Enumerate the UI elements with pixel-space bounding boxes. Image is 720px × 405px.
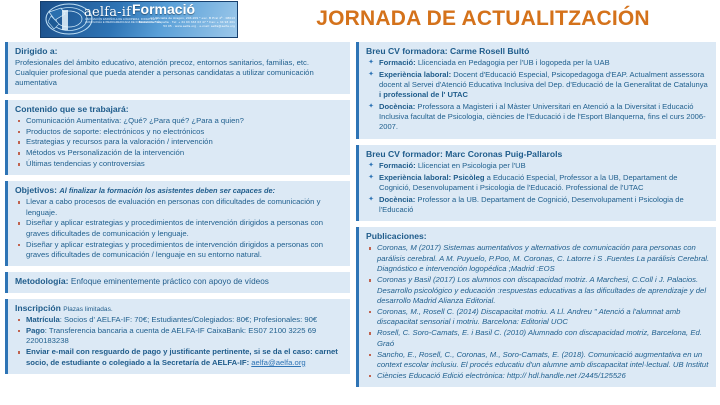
cv2-name: Marc Coronas Puig-Pallarols <box>445 149 562 159</box>
publicaciones-title: Publicaciones: <box>366 231 710 241</box>
cv2-list: ✦Formació: Llicenciat en Psicologia per … <box>366 161 710 215</box>
cv1-formacio-text: Llicenciada en Pedagogia per l'UB i logo… <box>416 58 610 67</box>
matricula-text: : Socios d' AELFA-IF: 70€; Estudiantes/C… <box>60 315 317 324</box>
cv1-name: Carme Rosell Bultó <box>450 46 529 56</box>
list-item-docencia: ✦Docència: Professor a la UB. Departamen… <box>366 195 710 215</box>
cv2-label: Breu CV formador: <box>366 149 443 159</box>
cv1-docencia-label: Docència: <box>379 102 415 111</box>
dirigido-title: Dirigido a: <box>15 46 344 56</box>
aelfa-address: C/ Oficialía de Aragón, 203-209 * esc. B… <box>137 16 235 29</box>
list-item-matricula: Matrícula: Socios d' AELFA-IF: 70€; Estu… <box>15 315 344 325</box>
formacio-label: Formació <box>132 1 195 17</box>
diamond-bullet-icon: ✦ <box>368 60 374 66</box>
section-publicaciones: Publicaciones: Coronas, M (2017) Sistema… <box>356 227 716 386</box>
list-item-experiencia: ✦Experiència laboral: Docent d'Educació … <box>366 70 710 101</box>
diamond-bullet-icon: ✦ <box>368 197 374 203</box>
section-objetivos: Objetivos: Al finalizar la formación los… <box>5 181 350 266</box>
objetivos-list: Llevar a cabo procesos de evaluación en … <box>15 197 344 260</box>
cv1-label: Breu CV formadora: <box>366 46 448 56</box>
aelfa-email-link[interactable]: aelfa@aelfa.org <box>251 358 305 367</box>
cv1-experiencia-tail: i professional de l' UTAC <box>379 90 468 99</box>
list-item-email: Enviar e-mail con resguardo de pago y ju… <box>15 347 344 368</box>
poster-header: aelfa-if ASOCIACIÓN ESPAÑOLA DE LOGOPEDI… <box>0 0 720 40</box>
section-inscripcion: Inscripción Plazas limitadas. Matrícula:… <box>5 299 350 374</box>
section-contenido: Contenido que se trabajará: Comunicación… <box>5 100 350 176</box>
objetivos-label: Objetivos: <box>15 185 57 195</box>
cv2-docencia-label: Docència: <box>379 195 415 204</box>
pago-label: Pago <box>26 326 45 335</box>
metodologia-text: Enfoque eminentemente práctico con apoyo… <box>71 277 269 286</box>
diamond-bullet-icon: ✦ <box>368 175 374 181</box>
cv2-docencia-text: Professor a la UB. Departament de Cognic… <box>379 195 684 214</box>
metodologia-title: Metodología: Enfoque eminentemente práct… <box>15 276 344 286</box>
diamond-bullet-icon: ✦ <box>368 72 374 78</box>
cv2-formacio-label: Formació: <box>379 161 416 170</box>
list-item: Rosell, C. Soro-Camats, E. i Basil C. (2… <box>366 328 710 349</box>
cv2-experiencia-label: Experiència laboral: <box>379 173 451 182</box>
dirigido-text: Profesionales del ámbito educativo, aten… <box>15 58 344 89</box>
list-item: Sancho, E., Rosell, C., Coronas, M., Sor… <box>366 350 710 371</box>
list-item: Llevar a cabo procesos de evaluación en … <box>15 197 344 218</box>
section-cv-formadora: Breu CV formadora: Carme Rosell Bultó ✦F… <box>356 42 716 139</box>
list-item: Productos de soporte: electrónicos y no … <box>15 127 344 137</box>
pago-text: : Transferencia bancaria a cuenta de AEL… <box>26 326 316 345</box>
cv2-formacio-text: Llicenciat en Psicologia per l'UB <box>416 161 526 170</box>
right-column: Breu CV formadora: Carme Rosell Bultó ✦F… <box>356 42 716 393</box>
list-item: Comunicación Aumentativa: ¿Qué? ¿Para qu… <box>15 116 344 126</box>
cv2-title: Breu CV formador: Marc Coronas Puig-Pall… <box>366 149 710 159</box>
list-item: Ciències Educació Edició electrònica: ht… <box>366 371 710 381</box>
list-item: Coronas, M., Rosell C. (2014) Discapacit… <box>366 307 710 328</box>
list-item: Coronas, M (2017) Sistemas aumentativos … <box>366 243 710 274</box>
section-metodologia: Metodología: Enfoque eminentemente práct… <box>5 272 350 293</box>
inscripcion-list: Matrícula: Socios d' AELFA-IF: 70€; Estu… <box>15 315 344 368</box>
diamond-bullet-icon: ✦ <box>368 104 374 110</box>
list-item: Coronas y Basil (2017) Los alumnos con d… <box>366 275 710 306</box>
list-item-pago: Pago: Transferencia bancaria a cuenta de… <box>15 326 344 347</box>
publicaciones-list: Coronas, M (2017) Sistemas aumentativos … <box>366 243 710 381</box>
inscripcion-subtitle: Plazas limitadas. <box>63 306 112 313</box>
objetivos-title: Objetivos: Al finalizar la formación los… <box>15 185 344 195</box>
left-column: Dirigido a: Profesionales del ámbito edu… <box>5 42 350 380</box>
contenido-title: Contenido que se trabajará: <box>15 104 344 114</box>
section-dirigido-a: Dirigido a: Profesionales del ámbito edu… <box>5 42 350 94</box>
list-item: Estrategias y recursos para la valoració… <box>15 137 344 147</box>
list-item: Diseñar y aplicar estrategias y procedim… <box>15 218 344 239</box>
cv1-docencia-text: Professora a Magisteri i al Màster Unive… <box>379 102 706 131</box>
cv2-experiencia-mid: Psicòleg <box>451 173 484 182</box>
metodologia-label: Metodología: <box>15 276 68 286</box>
list-item: Métodos vs Personalización de la interve… <box>15 148 344 158</box>
list-item-formacio: ✦Formació: Llicenciat en Psicologia per … <box>366 161 710 171</box>
list-item-docencia: ✦Docència: Professora a Magisteri i al M… <box>366 102 710 133</box>
poster-root: aelfa-if ASOCIACIÓN ESPAÑOLA DE LOGOPEDI… <box>0 0 720 405</box>
inscripcion-title: Inscripción Plazas limitadas. <box>15 303 344 313</box>
list-item: Últimas tendencias y controversias <box>15 159 344 169</box>
diamond-bullet-icon: ✦ <box>368 163 374 169</box>
matricula-label: Matrícula <box>26 315 60 324</box>
cv1-title: Breu CV formadora: Carme Rosell Bultó <box>366 46 710 56</box>
list-item: Diseñar y aplicar estrategias y procedim… <box>15 240 344 261</box>
inscripcion-label: Inscripción <box>15 303 61 313</box>
page-title: JORNADA DE ACTUALITZACIÓN <box>253 7 713 31</box>
cv1-experiencia-label: Experiència laboral: <box>379 70 451 79</box>
list-item-formacio: ✦Formació: Llicenciada en Pedagogia per … <box>366 58 710 68</box>
cv1-list: ✦Formació: Llicenciada en Pedagogia per … <box>366 58 710 132</box>
contenido-list: Comunicación Aumentativa: ¿Qué? ¿Para qu… <box>15 116 344 170</box>
objetivos-subtitle: Al finalizar la formación los asistentes… <box>59 186 275 195</box>
list-item-experiencia: ✦Experiència laboral: Psicòleg a Educaci… <box>366 173 710 193</box>
cv1-formacio-label: Formació: <box>379 58 416 67</box>
section-cv-formador: Breu CV formador: Marc Coronas Puig-Pall… <box>356 145 716 222</box>
